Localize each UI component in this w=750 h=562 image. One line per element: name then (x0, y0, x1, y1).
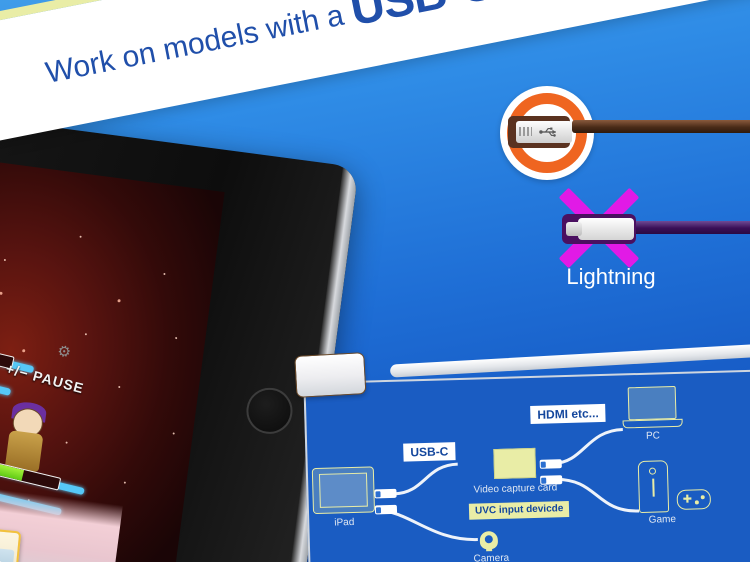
promo-screenshot: 13 10 (0, 0, 750, 562)
node-label-ipad: iPad (313, 516, 375, 529)
badge-hdmi: HDMI etc... (530, 404, 606, 424)
connector-plug-icon (540, 475, 562, 485)
connector-plug-icon (374, 489, 396, 499)
connector-plug-icon (540, 459, 562, 469)
connection-diagram: iPad USB-C Video capture card UVC input … (303, 370, 750, 562)
headline-highlight: USB-C (346, 0, 497, 35)
lightning-connector-icon (562, 214, 640, 244)
usb-cable (572, 120, 750, 133)
ipad-screen[interactable]: 13 10 (0, 149, 225, 562)
headline-tail: port. (490, 0, 556, 1)
badge-usb-c: USB-C (403, 442, 455, 461)
camera-icon (480, 531, 499, 551)
laptop-icon (622, 386, 683, 432)
usb-icon (508, 110, 580, 154)
node-label-camera: Camera (456, 552, 526, 562)
usb-glyph-icon (538, 126, 560, 138)
headline-lead: Work on models with a (43, 0, 355, 90)
badge-uvc-input: UVC input devicde (469, 501, 570, 520)
ipad-home-button[interactable] (244, 385, 296, 437)
lightning-label: Lightning (526, 264, 696, 290)
game-console-icon (638, 460, 669, 513)
tablet-icon (312, 466, 375, 514)
capture-card-icon (493, 448, 536, 479)
card-art-tornado (0, 546, 14, 562)
game-card[interactable]: 2 (0, 527, 21, 562)
connector-plug-icon (375, 505, 397, 515)
gamepad-icon: ✚ (677, 489, 712, 510)
lightning-cable (632, 221, 750, 234)
node-label-game: Game (631, 514, 693, 527)
node-label-pc: PC (623, 430, 683, 443)
ipad-device: 13 10 (0, 117, 359, 562)
